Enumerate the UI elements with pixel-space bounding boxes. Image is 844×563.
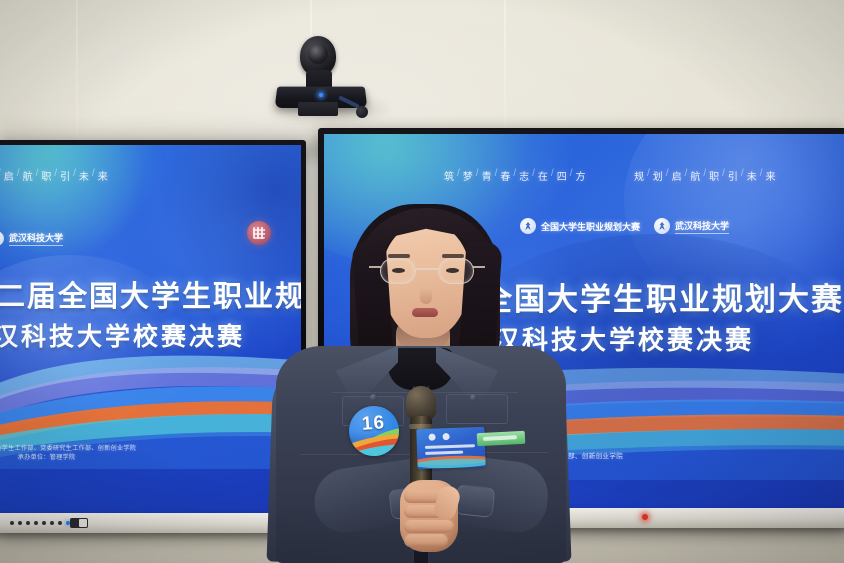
tagline-char: 方: [575, 168, 586, 183]
presenter-number-badge: 16: [347, 404, 400, 457]
tagline-sep: /: [511, 168, 519, 183]
tagline-sep: /: [664, 168, 672, 183]
tagline-char: 来: [98, 168, 109, 183]
tagline-char: 引: [728, 168, 739, 183]
flag-emblem-icon: [428, 434, 435, 441]
tagline-char: 筑: [444, 168, 455, 183]
tagline-sep: /: [758, 168, 766, 183]
flag-text-line: [425, 444, 475, 449]
tagline-sep: /: [701, 168, 709, 183]
tagline-char: 未: [747, 168, 758, 183]
glasses-lens-left: [380, 258, 416, 284]
logo-group: 武汉科技大学: [0, 231, 63, 246]
display-button[interactable]: [42, 521, 46, 525]
tagline-char: 职: [709, 168, 720, 183]
tagline-char: 在: [538, 168, 549, 183]
tagline-char: 青: [482, 168, 493, 183]
jacket-seam: [332, 392, 420, 393]
jacket-pocket-right: [446, 394, 508, 424]
tagline-sep: /: [568, 168, 576, 183]
tagline-sep: /: [739, 168, 747, 183]
display-button[interactable]: [26, 521, 30, 525]
camera-mount: [298, 102, 338, 116]
ceiling-camera: [272, 36, 382, 116]
tagline-sep: /: [71, 168, 79, 183]
tagline-char: 梦: [463, 168, 474, 183]
display-button[interactable]: [50, 521, 54, 525]
tagline-char: 志: [519, 168, 530, 183]
logo-label: 武汉科技大学: [675, 219, 729, 234]
tagline-sep: /: [720, 168, 728, 183]
tagline-char: 规: [634, 168, 645, 183]
tagline-char: 四: [557, 168, 568, 183]
logo-group-university: 武汉科技大学: [654, 218, 729, 234]
jacket-seam: [422, 392, 518, 393]
glasses-temple-left: [369, 266, 381, 268]
presenter-lanyard-tag: [477, 431, 526, 446]
tagline-sep: /: [530, 168, 538, 183]
hand-finger: [404, 520, 454, 533]
jacket-button: [370, 394, 377, 401]
tagline-char: 来: [765, 168, 776, 183]
display-button[interactable]: [58, 521, 62, 525]
tagline-sep: /: [683, 168, 691, 183]
left-display-screen: 划/ 启/ 航/ 职/ 引/ 未/ 来 武汉科技大学 第二届全国大学生职业: [0, 145, 301, 513]
tagline-char: 职: [41, 168, 52, 183]
left-display[interactable]: 划/ 启/ 航/ 职/ 引/ 未/ 来 武汉科技大学 第二届全国大学生职业: [0, 140, 306, 532]
tagline-sep: /: [52, 168, 60, 183]
logo-label: 武汉科技大学: [9, 231, 63, 246]
tagline-char: 启: [672, 168, 683, 183]
glasses-bridge: [416, 268, 438, 270]
tagline-char: 引: [60, 168, 71, 183]
presenter-mouth: [412, 308, 438, 317]
display-button[interactable]: [18, 521, 22, 525]
tagline-sep: /: [645, 168, 653, 183]
left-display-control-tray[interactable]: [0, 513, 308, 533]
presenter-hand: [400, 480, 458, 552]
right-display-power-led: [642, 514, 648, 520]
slide-tagline-left-screen: 划/ 启/ 航/ 职/ 引/ 未/ 来: [0, 168, 109, 183]
jacket-cuff-right: [455, 484, 496, 518]
hand-finger: [404, 534, 448, 547]
tagline-sep: /: [34, 168, 42, 183]
slide-logos-left-screen: 武汉科技大学: [0, 231, 63, 246]
presenter: 16: [270, 196, 570, 563]
tagline-sep: /: [455, 168, 463, 183]
display-button[interactable]: [34, 521, 38, 525]
tagline-char: 启: [4, 168, 15, 183]
credit-line: 主办单位：党委学生工作部、党委研究生工作部、创新创业学院: [0, 445, 136, 454]
university-emblem-icon: [654, 218, 670, 234]
university-emblem-icon: [0, 231, 4, 246]
display-button[interactable]: [10, 521, 14, 525]
tagline-sep: /: [474, 168, 482, 183]
tagline-char: 航: [23, 168, 34, 183]
microphone-head-icon: [406, 386, 436, 420]
glasses-lens-right: [438, 258, 474, 284]
tagline-sep: /: [493, 168, 501, 183]
tagline-sep: /: [549, 168, 557, 183]
microphone-flag-card: [416, 427, 485, 469]
tagline-sep: /: [90, 168, 98, 183]
slide-surface-left: 划/ 启/ 航/ 职/ 引/ 未/ 来 武汉科技大学 第二届全国大学生职业: [0, 145, 301, 513]
tagline-char: 春: [500, 168, 511, 183]
tagline-char: 航: [690, 168, 701, 183]
slide-credits-left-screen: 主办单位：党委学生工作部、党委研究生工作部、创新创业学院 承办单位：管理学院: [0, 445, 136, 464]
tagline-sep: /: [0, 168, 4, 183]
tagline-char: 划: [653, 168, 664, 183]
badge-number-label: 16: [348, 411, 399, 436]
tagline-sep: /: [15, 168, 23, 183]
jacket-button: [470, 394, 477, 401]
flag-emblem-icon: [442, 433, 449, 440]
display-button-row[interactable]: [10, 521, 70, 525]
camera-status-led: [319, 93, 323, 97]
slide-seal-watermark: [247, 221, 271, 245]
flag-text-line: [425, 451, 463, 455]
display-power-switch[interactable]: [70, 518, 88, 528]
glasses-temple-right: [473, 266, 485, 268]
credit-line: 承办单位：管理学院: [0, 454, 136, 463]
presenter-glasses: [380, 258, 474, 284]
camera-knob: [356, 106, 368, 118]
slide-headline-left-screen: 第二届全国大学生职业规划大赛: [0, 273, 301, 315]
camera-lens-icon: [308, 44, 328, 64]
slide-tagline-part-a: 筑/ 梦/ 青/ 春/ 志/ 在/ 四/ 方: [444, 168, 586, 183]
slide-tagline-part-b: 规/ 划/ 启/ 航/ 职/ 引/ 未/ 来: [634, 168, 776, 183]
tagline-char: 未: [79, 168, 90, 183]
presenter-nose: [420, 288, 432, 304]
screenshot-scene: 划/ 启/ 航/ 职/ 引/ 未/ 来 武汉科技大学 第二届全国大学生职业: [0, 0, 844, 563]
